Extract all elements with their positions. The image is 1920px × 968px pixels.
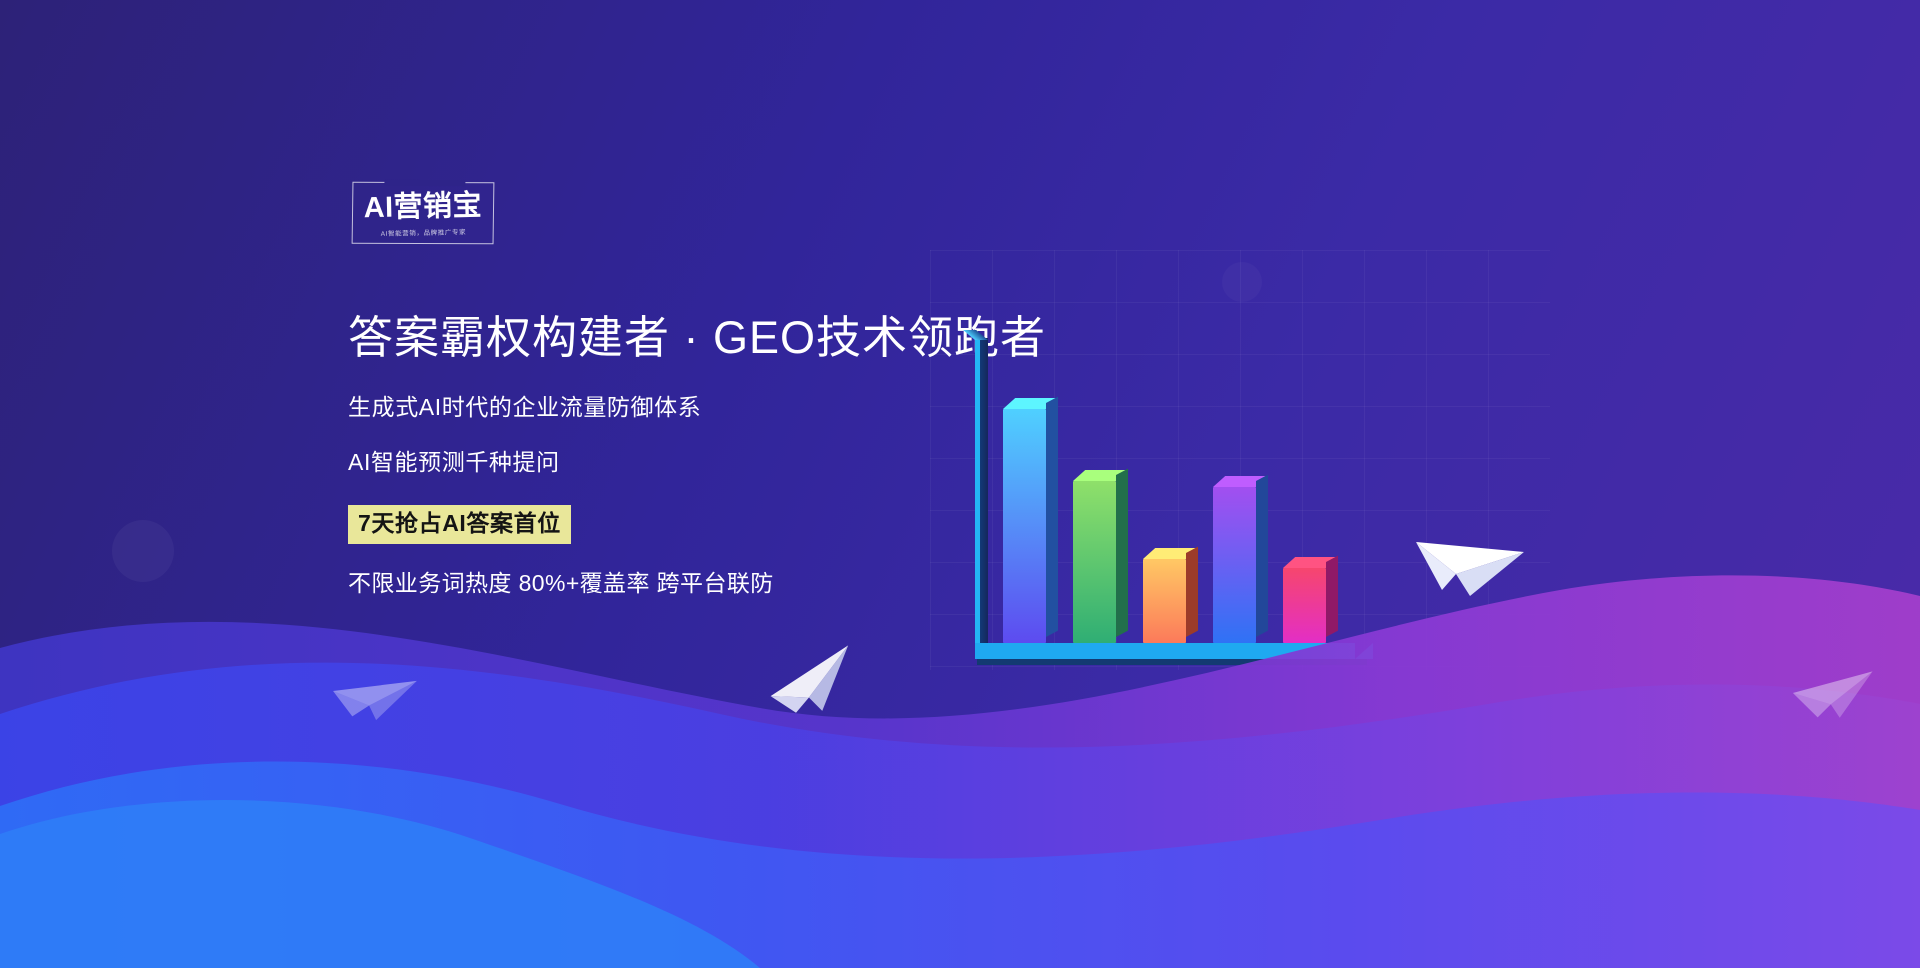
hero-banner: AI营销宝 AI智能营销，品牌推广专家 答案霸权构建者 · GEO技术领跑者 生… [0, 0, 1920, 968]
wave-decoration [0, 538, 1920, 968]
logo-wordmark: AI营销宝 [363, 192, 482, 223]
brand-logo[interactable]: AI营销宝 AI智能营销，品牌推广专家 [351, 181, 494, 246]
